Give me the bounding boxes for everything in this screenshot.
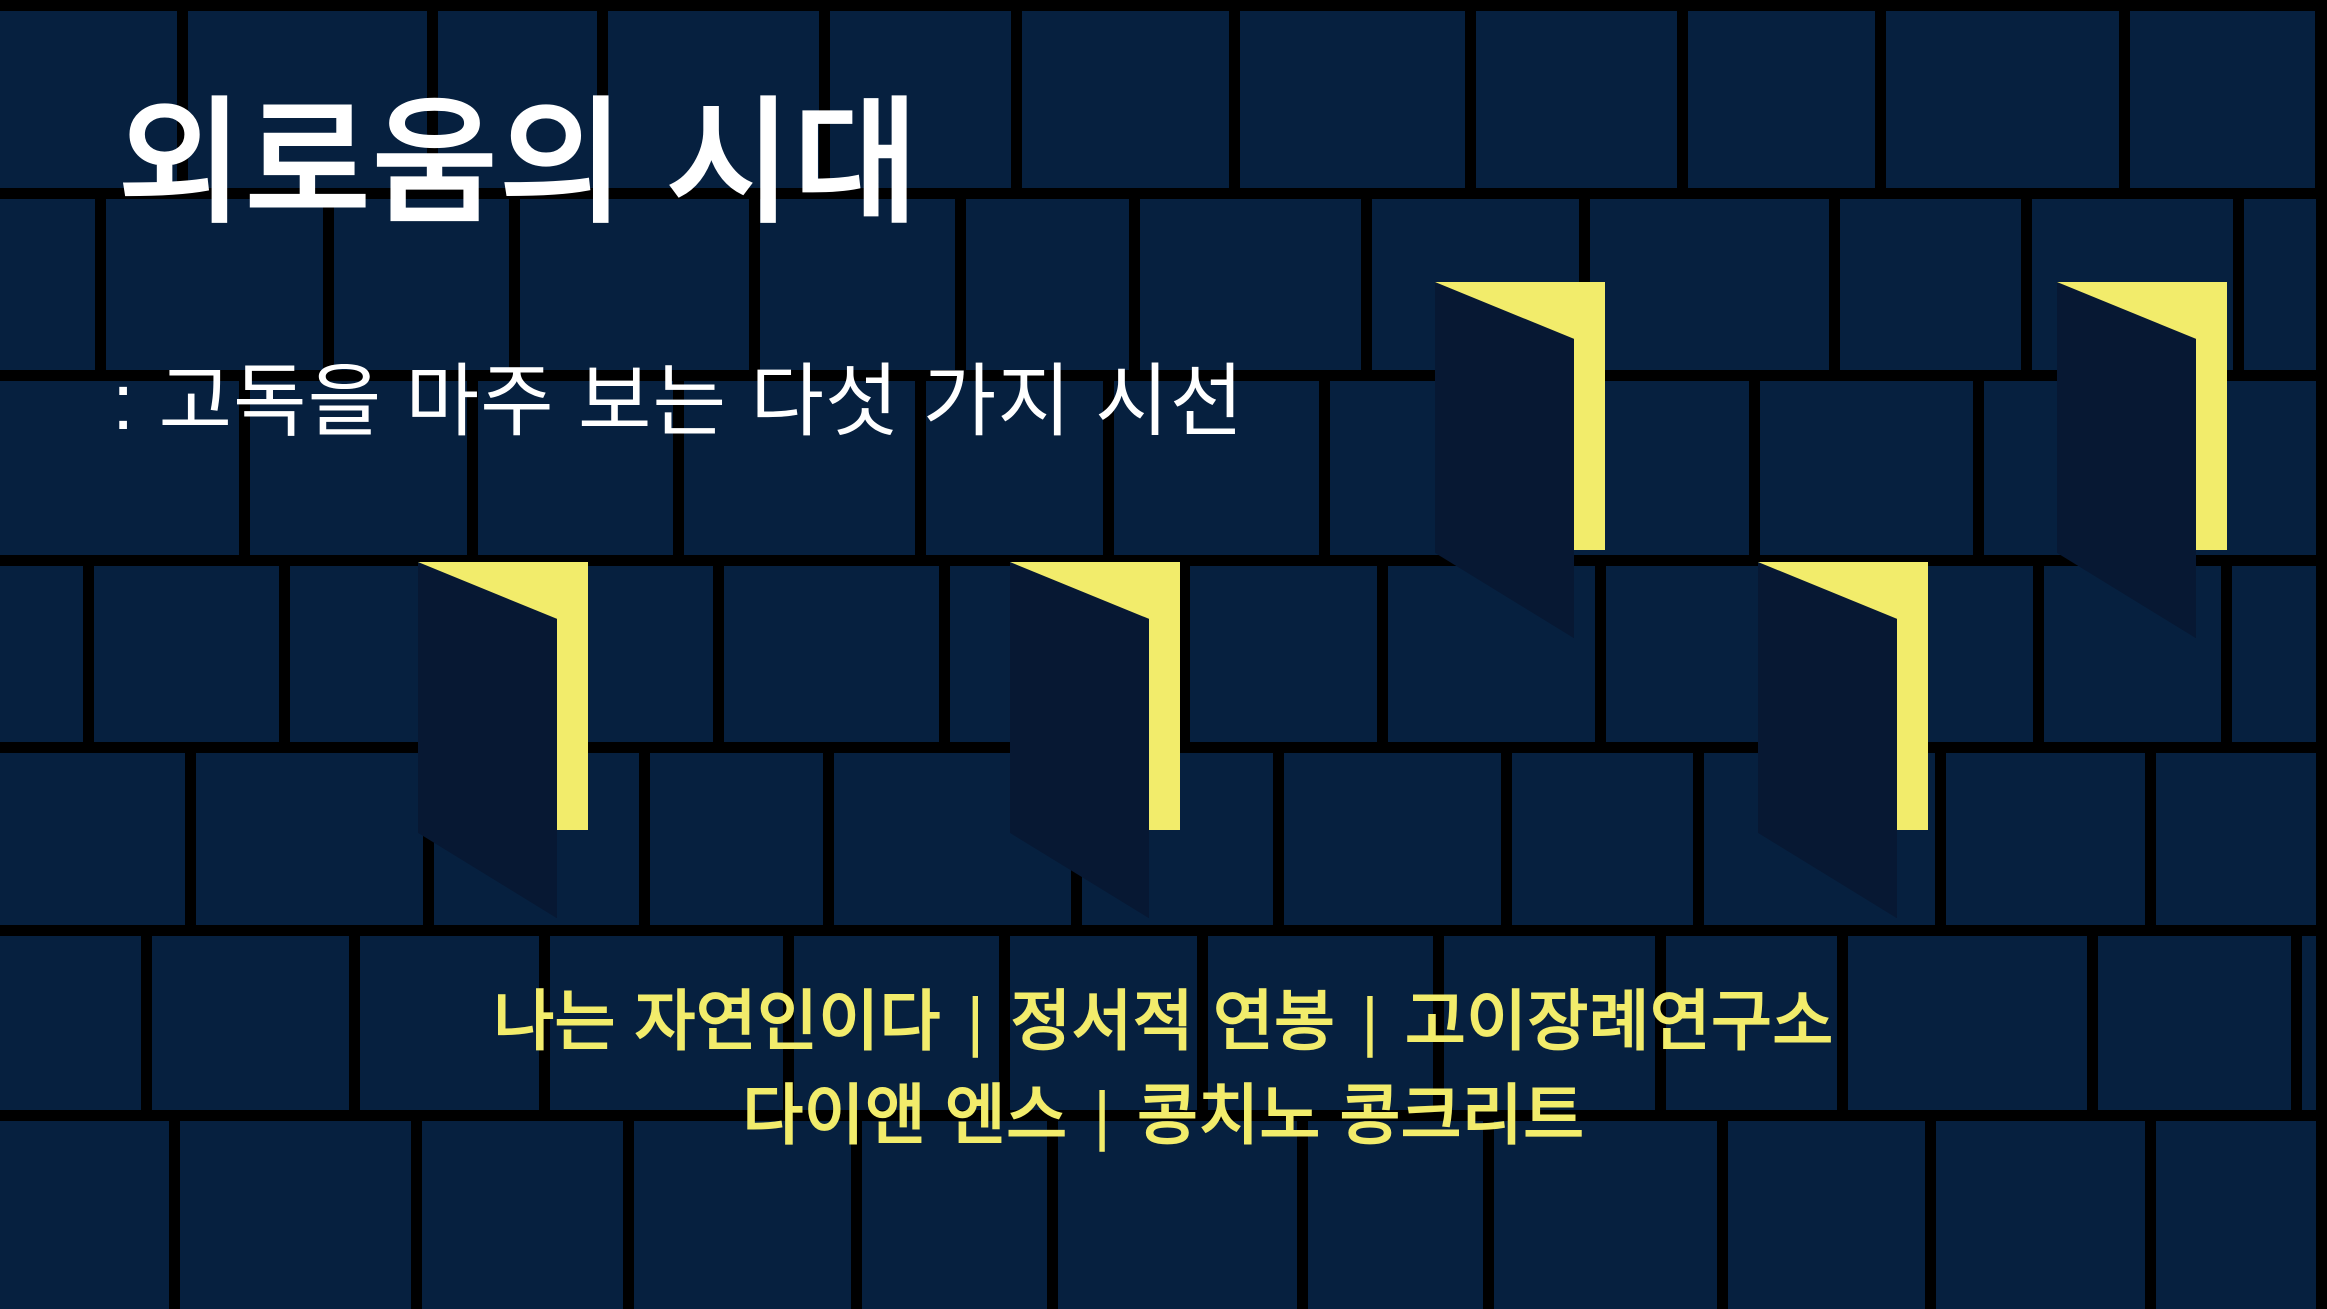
wall-brick [724,566,939,742]
credit-item: 고이장례연구소 [1405,984,1834,1058]
wall-brick [2232,566,2316,742]
presentation-slide: 외로움의 시대 : 고독을 마주 보는 다섯 가지 시선 나는 자연인이다|정서… [0,0,2327,1309]
wall-brick [1240,11,1465,188]
credits-block: 나는 자연인이다|정서적 연봉|고이장례연구소다이앤 엔스|콩치노 콩크리트 [0,975,2327,1162]
door-lower-left [418,562,588,830]
credit-separator: | [1335,975,1405,1069]
credit-separator: | [1067,1069,1137,1163]
wall-brick [1946,753,2145,925]
door-lower-right [1758,562,1928,830]
door-upper-right-inner [1435,282,1605,550]
wall-brick [966,199,1129,370]
wall-brick [196,753,423,925]
wall-brick [1512,753,1693,925]
wall-brick [2156,753,2316,925]
credit-item: 나는 자연인이다 [493,984,940,1058]
credit-item: 콩치노 콩크리트 [1137,1078,1584,1152]
door-lower-center [1010,562,1180,830]
wall-brick [1140,199,1361,370]
credit-line: 다이앤 엔스|콩치노 콩크리트 [0,1069,2327,1163]
wall-brick [650,753,823,925]
wall-brick [1476,11,1677,188]
wall-brick [1840,199,2021,370]
door-upper-far-right [2057,282,2227,550]
wall-brick [1590,199,1829,370]
wall-brick [1760,381,1973,555]
wall-brick [0,199,95,370]
wall-brick [1284,753,1501,925]
wall-brick [1022,11,1229,188]
wall-brick [1190,566,1377,742]
page-title: 외로움의 시대 [118,92,921,235]
credit-line: 나는 자연인이다|정서적 연봉|고이장례연구소 [0,975,2327,1069]
wall-brick [94,566,279,742]
wall-brick [0,566,83,742]
credit-item: 정서적 연봉 [1010,984,1335,1058]
credit-separator: | [941,975,1011,1069]
wall-brick [2244,199,2316,370]
wall-brick [1688,11,1875,188]
wall-brick [0,753,185,925]
credit-item: 다이앤 엔스 [743,1078,1068,1152]
page-subtitle: : 고독을 마주 보는 다섯 가지 시선 [112,358,1244,446]
wall-brick [1886,11,2119,188]
wall-brick [2130,11,2315,188]
